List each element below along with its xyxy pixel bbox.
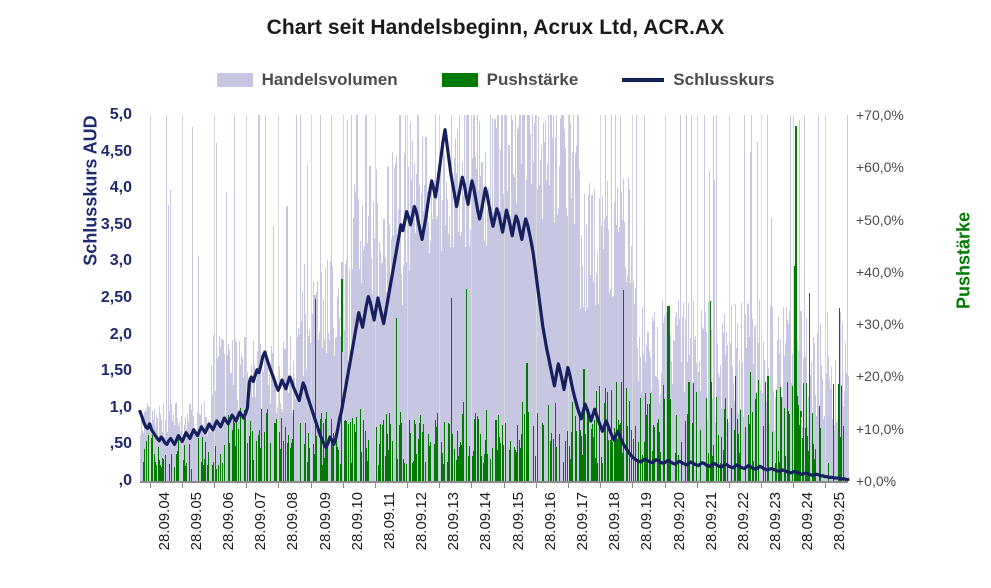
x-axis-tick	[697, 481, 698, 488]
x-axis-tick-label: 28.09.23	[767, 492, 784, 550]
y-axis-left-tick-label: 3,50	[101, 216, 132, 234]
x-axis-tick-label: 28.09.18	[606, 492, 623, 550]
legend-label-price: Schlusskurs	[673, 70, 774, 90]
x-axis-tick-label: 28.09.12	[413, 492, 430, 550]
x-axis-tick	[343, 481, 344, 488]
chart-container: Chart seit Handelsbeginn, Acrux Ltd, ACR…	[0, 0, 991, 588]
x-axis-tick-label: 28.09.05	[188, 492, 205, 550]
x-axis-tick-label: 28.09.15	[510, 492, 527, 550]
x-axis-tick-label: 28.09.24	[799, 492, 816, 550]
y-axis-right-tick-label: +70,0%	[856, 107, 904, 123]
y-axis-left-tick-label: 1,50	[101, 362, 132, 380]
x-axis-tick-label: 28.09.11	[381, 492, 398, 549]
x-axis-tick-label: 28.09.17	[574, 492, 591, 550]
x-axis-tick-label: 28.09.20	[671, 492, 688, 550]
x-axis-tick	[375, 481, 376, 488]
y-axis-right-tick-label: +30,0%	[856, 316, 904, 332]
x-axis-tick-label: 28.09.06	[220, 492, 237, 550]
y-axis-right-tick-label: +20,0%	[856, 368, 904, 384]
y-axis-right-tick-label: +10,0%	[856, 421, 904, 437]
y-axis-left-tick-label: 4,0	[110, 179, 132, 197]
x-axis-tick	[665, 481, 666, 488]
x-axis-tick-label: 28.09.16	[542, 492, 559, 550]
y-axis-left-tick-label: 2,0	[110, 326, 132, 344]
x-axis-tick	[761, 481, 762, 488]
x-axis-tick-label: 28.09.07	[252, 492, 269, 550]
x-axis-tick	[600, 481, 601, 488]
x-axis-tick	[246, 481, 247, 488]
y-axis-left-tick-label: ,50	[110, 435, 132, 453]
legend-label-push: Pushstärke	[487, 70, 579, 90]
x-axis-tick	[793, 481, 794, 488]
x-axis-tick	[150, 481, 151, 488]
x-axis-tick	[214, 481, 215, 488]
y-axis-right-tick-label: +50,0%	[856, 212, 904, 228]
x-axis-labels: 28.09.0428.09.0528.09.0628.09.0728.09.08…	[140, 492, 848, 588]
price-line-path	[140, 130, 848, 480]
x-axis-tick-label: 28.09.09	[317, 492, 334, 550]
x-axis-tick-label: 28.09.04	[156, 492, 173, 550]
x-axis-tick-label: 28.09.19	[638, 492, 655, 550]
price-line-icon	[622, 78, 664, 82]
chart-legend: Handelsvolumen Pushstärke Schlusskurs	[0, 70, 991, 90]
legend-item-price[interactable]: Schlusskurs	[622, 70, 774, 90]
x-axis-tick-label: 28.09.14	[477, 492, 494, 550]
x-axis-tick	[568, 481, 569, 488]
volume-bar	[848, 376, 849, 481]
x-axis-tick	[278, 481, 279, 488]
x-axis-tick	[729, 481, 730, 488]
legend-label-volume: Handelsvolumen	[262, 70, 398, 90]
y-axis-left-tick-label: ,0	[119, 472, 132, 490]
push-swatch-icon	[442, 73, 478, 87]
price-line-series	[140, 115, 848, 481]
y-axis-right-tick-label: +0,0%	[856, 473, 896, 489]
x-axis-tick	[632, 481, 633, 488]
x-axis-tick-label: 28.09.22	[735, 492, 752, 550]
y-axis-right-tick-label: +40,0%	[856, 264, 904, 280]
y-axis-left-tick-label: 4,50	[101, 143, 132, 161]
x-axis-tick	[471, 481, 472, 488]
x-axis-tick	[407, 481, 408, 488]
x-axis-tick-label: 28.09.08	[284, 492, 301, 550]
page-title: Chart seit Handelsbeginn, Acrux Ltd, ACR…	[0, 16, 991, 40]
x-axis-tick-label: 28.09.13	[445, 492, 462, 550]
plot-area	[140, 115, 848, 481]
legend-item-volume[interactable]: Handelsvolumen	[217, 70, 398, 90]
y-axis-right-ticks: +70,0%+60,0%+50,0%+40,0%+30,0%+20,0%+10,…	[856, 115, 946, 481]
x-axis-tick-label: 28.09.25	[831, 492, 848, 550]
y-axis-left-tick-label: 1,0	[110, 399, 132, 417]
x-axis-tick	[504, 481, 505, 488]
y-axis-left-tick-label: 5,0	[110, 106, 132, 124]
legend-item-push[interactable]: Pushstärke	[442, 70, 579, 90]
x-axis-tick-label: 28.09.10	[349, 492, 366, 550]
x-axis-tick-label: 28.09.21	[703, 492, 720, 550]
y-axis-left-tick-label: 2,50	[101, 289, 132, 307]
x-axis-tick	[825, 481, 826, 488]
y-axis-right-tick-label: +60,0%	[856, 159, 904, 175]
volume-swatch-icon	[217, 73, 253, 87]
x-axis-tick	[311, 481, 312, 488]
x-axis-tick	[182, 481, 183, 488]
x-axis-tick	[439, 481, 440, 488]
y-axis-left-ticks: 5,04,504,03,503,02,502,01,501,0,50,0	[62, 115, 132, 481]
x-axis-tick	[536, 481, 537, 488]
y-axis-title-right: Pushstärke	[954, 181, 975, 341]
y-axis-left-tick-label: 3,0	[110, 252, 132, 270]
